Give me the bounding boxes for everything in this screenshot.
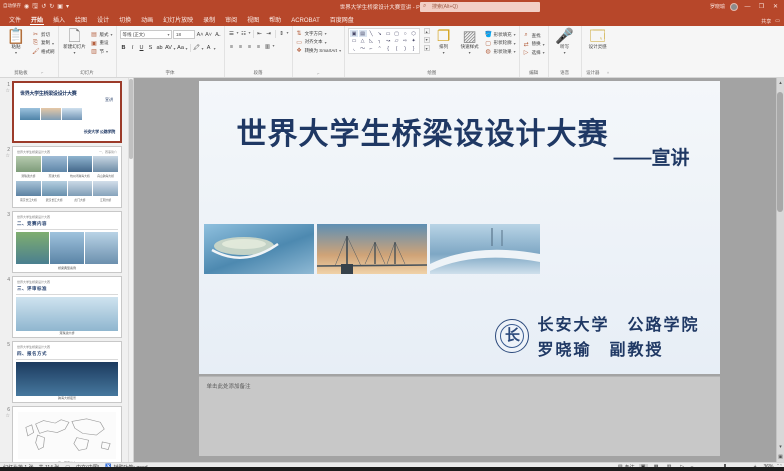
ribbon-group-drawing: ▣ ▤ ╲ ↘ ▭ ▢ ○ ⬡ ▭ △ ◺ ╮ ↝ ▱ ⇨ ✦ ◟ 〜 ⌐ ⌃ [345, 26, 520, 77]
slide-photo-2[interactable] [317, 224, 427, 274]
thumb4-caption: 港珠澳大桥 [13, 331, 121, 335]
autosave-switch-icon[interactable]: ◉ [24, 4, 29, 10]
thumbnail-slide-3[interactable]: 世界大学生桥梁设计大赛 二、竞赛内容 桥梁典型案例 [12, 211, 122, 273]
quick-style-button[interactable]: ▨ 快速样式 ▾ [458, 28, 482, 55]
font-name-input[interactable]: 等线 (正文) ▾ [120, 30, 172, 39]
font-size-value: 18 [176, 32, 181, 37]
ribbon: 📋 粘贴 ▾ ✂ 剪切 ⎘ 复制 ▾ 🖌 格式刷 [0, 26, 784, 78]
group-label-font: 字体 [120, 70, 221, 77]
shape-gallery[interactable]: ▣ ▤ ╲ ↘ ▭ ▢ ○ ⬡ ▭ △ ◺ ╮ ↝ ▱ ⇨ ✦ ◟ 〜 ⌐ ⌃ [348, 28, 420, 54]
ribbon-group-paragraph-extras: ⇅ 文字方向 ▾ ▭ 对齐文本 ▾ ❖ 转换为 SmartArt ▾ ⌐ [293, 26, 346, 77]
chevron-down-icon[interactable]: ▾ [174, 46, 176, 51]
layout-label: 版式 [100, 32, 109, 38]
divider [16, 359, 118, 360]
thumb3-header: 世界大学生桥梁设计大赛 [17, 215, 50, 219]
chevron-down-icon[interactable]: ▾ [543, 50, 545, 55]
tab-acrobat[interactable]: ACROBAT [286, 18, 325, 26]
shape-rtriangle[interactable]: ◺ [367, 38, 375, 45]
replace-label: 替换 [532, 41, 541, 47]
designer-label: 设计灵感 [589, 44, 607, 49]
divider [16, 229, 118, 230]
character-shading-icon[interactable]: 🖍 [193, 44, 201, 52]
tab-home[interactable]: 开始 [26, 15, 48, 26]
thumb6-heading: 五、赛事分布 [13, 461, 121, 462]
thumbnail-number-2: 2 ☆ [2, 146, 12, 159]
slide-editor-pane: 世界大学生桥梁设设计大赛 ——宣讲 [134, 78, 784, 462]
line-spacing-button[interactable]: ⇕ [278, 30, 286, 38]
thumbnail-number-5: 5 [2, 341, 12, 348]
quick-access-toolbar[interactable]: 自动保存 ◉ 🖫 ↺ ↻ ▣ ▾ [0, 3, 69, 10]
thumb5-image [16, 362, 118, 396]
slide-scrollbar-handle[interactable] [777, 92, 783, 212]
title-bar: 自动保存 ◉ 🖫 ↺ ↻ ▣ ▾ 世界大学生桥梁设计大赛宣讲 - PowerPo… [0, 0, 784, 13]
font-size-input[interactable]: 18 [173, 30, 195, 39]
search-input[interactable]: ⌕ 搜索(Alt+Q) [420, 2, 540, 12]
shape-arc[interactable]: ◟ [350, 45, 358, 52]
shape-fill-label: 形状填充 [494, 32, 512, 38]
align-right-button[interactable]: ≡ [246, 43, 254, 51]
reset-label: 重设 [100, 40, 109, 46]
find-label: 查找 [532, 33, 541, 39]
slide-footer-block[interactable]: 长 长安大学 公路学院 罗晓瑜 副教授 [495, 311, 699, 360]
thumb1-photo-strip [20, 108, 82, 120]
thumbnail-slide-4[interactable]: 世界大学生桥梁设计大赛 三、评审标准 港珠澳大桥 [12, 276, 122, 338]
text-direction-button[interactable]: ⇅ 文字方向 ▾ [296, 30, 342, 37]
save-icon[interactable]: 🖫 [32, 3, 38, 10]
slide-footer-text: 长安大学 公路学院 罗晓瑜 副教授 [537, 311, 699, 360]
thumb4-heading: 三、评审标准 [17, 286, 47, 292]
tab-view[interactable]: 视图 [242, 15, 264, 26]
chevron-down-icon[interactable]: ▾ [214, 46, 216, 51]
chevron-down-icon[interactable]: ▾ [186, 46, 188, 51]
search-icon: ⌕ [423, 3, 426, 10]
minimize-button[interactable]: — [743, 4, 752, 10]
shape-textbox[interactable]: ▣ [350, 30, 358, 37]
dialog-launcher-icon[interactable]: ⌐ [317, 71, 319, 76]
copy-label: 复制 [41, 40, 50, 46]
tab-help[interactable]: 帮助 [264, 15, 286, 26]
thumb1-subtitle: 宣讲 [105, 97, 113, 103]
thumbnail-slide-2[interactable]: 世界大学生桥梁设计大赛 一、赛事简介 港珠澳大桥 苏通大桥 杭州湾跨海大桥 舟山… [12, 146, 122, 208]
comments-button[interactable]: ▭ [775, 18, 780, 24]
tab-transitions[interactable]: 切换 [114, 15, 136, 26]
thumbnail-slide-6[interactable]: 五、赛事分布 [12, 406, 122, 462]
format-painter-icon: 🖌 [32, 48, 39, 55]
search-icon: ⌕ [523, 32, 530, 39]
quick-style-label: 快速样式 [461, 44, 479, 49]
chevron-down-icon[interactable]: ▾ [66, 4, 69, 10]
ribbon-group-slides: 🗋 新建幻灯片 ▾ ▤ 版式 ▾ ▣ 重设 ▥ 节 ▾ [59, 26, 117, 77]
scroll-up-icon[interactable]: ▴ [424, 28, 430, 34]
tab-insert[interactable]: 插入 [48, 15, 70, 26]
change-case-button[interactable]: Aa [177, 44, 185, 52]
font-name-value: 等线 (正文) [123, 32, 145, 38]
thumb3-images [16, 232, 118, 264]
increase-indent-button[interactable]: ⇥ [265, 30, 273, 38]
shape-gallery-scroll[interactable]: ▴ ▾ ▾ [423, 28, 430, 51]
dictate-button[interactable]: 🎤 听写 ▾ [552, 28, 578, 55]
thumb4-header: 世界大学生桥梁设计大赛 [17, 280, 50, 284]
ribbon-group-clipboard: 📋 粘贴 ▾ ✂ 剪切 ⎘ 复制 ▾ 🖌 格式刷 [0, 26, 59, 77]
university-logo: 长 [495, 319, 529, 353]
thumb5-caption: 跨海大桥夜景 [13, 396, 121, 400]
copy-icon: ⎘ [32, 40, 39, 47]
shape-callout[interactable]: ▱ [393, 38, 401, 45]
section-button[interactable]: ▥ 节 ▾ [91, 48, 113, 55]
chevron-down-icon[interactable]: ▾ [443, 50, 445, 55]
slide-subtitle[interactable]: ——宣讲 [613, 143, 689, 170]
shape-brace-left[interactable]: { [384, 45, 392, 52]
thumb1-footer: 长安大学 公路学院 [84, 129, 115, 135]
scroll-down-icon[interactable]: ▾ [424, 37, 430, 43]
replace-button[interactable]: ⇄ 替换 ▾ [523, 41, 545, 48]
group-label-drawing: 绘图 [348, 70, 516, 77]
window-title: 世界大学生桥梁设计大赛宣讲 - PowerPoint [0, 3, 784, 11]
tab-file[interactable]: 文件 [4, 15, 26, 26]
avatar[interactable] [730, 3, 738, 11]
shape-rounded-rect[interactable]: ▢ [393, 30, 401, 37]
tab-record[interactable]: 录制 [198, 15, 220, 26]
chevron-down-icon[interactable]: ▾ [202, 46, 204, 51]
clear-formatting-icon[interactable]: A̶ [214, 31, 221, 39]
shape-freeform[interactable]: ↝ [384, 38, 392, 45]
thumb1-title: 世界大学生桥梁设设计大赛 [20, 90, 76, 97]
chevron-down-icon[interactable]: ▾ [15, 50, 17, 55]
thumbnail-row-4[interactable]: 4 世界大学生桥梁设计大赛 三、评审标准 港珠澳大桥 [0, 273, 133, 338]
group-label-voice: 语音 [552, 70, 578, 77]
select-icon: ▷ [523, 49, 530, 56]
thumbnail-scrollbar-handle[interactable] [129, 79, 133, 159]
chevron-down-icon[interactable]: ▾ [325, 31, 327, 36]
user-name: 罗晓瑜 [710, 3, 725, 10]
ribbon-tabs[interactable]: 文件 开始 插入 绘图 设计 切换 动画 幻灯片放映 录制 审阅 视图 帮助 A… [0, 13, 784, 26]
chevron-down-icon[interactable]: ▾ [273, 43, 275, 51]
shape-paren-right[interactable]: ) [401, 45, 409, 52]
shape-arrow[interactable]: ↘ [376, 30, 384, 37]
divider [275, 30, 276, 38]
shape-hexagon[interactable]: ⬡ [410, 30, 418, 37]
divider [190, 44, 191, 52]
thumb2-header: 世界大学生桥梁设计大赛 [17, 150, 50, 154]
slide-photo-3[interactable] [430, 224, 540, 274]
chevron-down-icon[interactable]: ▾ [514, 41, 516, 46]
autosave-toggle[interactable]: 自动保存 [3, 4, 21, 9]
taskbar-strip [0, 467, 784, 471]
smartart-label: 转换为 SmartArt [305, 48, 338, 54]
chevron-down-icon[interactable]: ▾ [514, 49, 516, 54]
tab-baidu-netdisk[interactable]: 百度网盘 [325, 15, 359, 26]
chevron-down-icon[interactable]: ▾ [339, 48, 341, 53]
chevron-down-icon[interactable]: ▾ [249, 30, 251, 38]
ribbon-group-paragraph: ☰ ▾ ☷ ▾ ⇤ ⇥ ⇕ ▾ ≡ ≡ ≡ ≡ ▥ ▾ 段落 [225, 26, 293, 77]
dictate-label: 听写 [560, 44, 569, 49]
reset-icon: ▣ [91, 40, 98, 47]
shape-outline-label: 形状轮廓 [494, 40, 512, 46]
shape-fill-button[interactable]: 🪣 形状填充 ▾ [485, 31, 516, 38]
align-text-icon: ▭ [296, 39, 303, 46]
format-painter-button[interactable]: 🖌 格式刷 [32, 48, 55, 55]
search-placeholder: 搜索(Alt+Q) [432, 3, 458, 10]
shape-effects-icon: ◍ [485, 48, 492, 55]
shape-textbox2[interactable]: ▤ [359, 30, 367, 37]
restore-button[interactable]: ❐ [757, 3, 766, 10]
underline-button[interactable]: U [138, 44, 146, 52]
shape-corner[interactable]: ⌐ [367, 45, 375, 52]
strikethrough-button[interactable]: ab [156, 44, 164, 52]
align-text-button[interactable]: ▭ 对齐文本 ▾ [296, 39, 342, 46]
group-label-clipboard: 剪贴板 ⌐ [3, 70, 55, 77]
shape-oval[interactable]: ○ [401, 30, 409, 37]
group-label-editing: 编辑 [523, 70, 545, 77]
thumb4-image [16, 297, 118, 331]
shape-effects-button[interactable]: ◍ 形状效果 ▾ [485, 48, 516, 55]
paste-icon: 📋 [7, 30, 26, 43]
thumbnail-row-3[interactable]: 3 世界大学生桥梁设计大赛 二、竞赛内容 桥梁典型案例 [0, 208, 133, 273]
numbering-button[interactable]: ☷ [240, 30, 248, 38]
collapse-ribbon-icon[interactable]: ˄ [601, 70, 609, 75]
thumb5-heading: 四、报名方式 [17, 351, 47, 357]
chevron-down-icon[interactable]: ▾ [325, 40, 327, 45]
align-left-button[interactable]: ≡ [228, 43, 236, 51]
find-button[interactable]: ⌕ 查找 [523, 32, 545, 39]
shape-arrow-block[interactable]: ⇨ [401, 38, 409, 45]
group-label-designer: 设计器 ˄ [585, 70, 611, 77]
close-button[interactable]: ✕ [771, 3, 780, 10]
slide-photo-1[interactable] [204, 224, 314, 274]
layout-button[interactable]: ▤ 版式 ▾ [91, 31, 113, 38]
shape-outline-icon: ▢ [485, 40, 492, 47]
thumb2-header-right: 一、赛事简介 [99, 150, 117, 154]
shape-outline-button[interactable]: ▢ 形状轮廓 ▾ [485, 40, 516, 47]
ribbon-group-voice: 🎤 听写 ▾ 语音 [549, 26, 582, 77]
thumb3-heading: 二、竞赛内容 [17, 221, 47, 227]
shadow-button[interactable]: S [147, 44, 155, 52]
shape-fill-icon: 🪣 [485, 31, 492, 38]
thumbnail-slide-1[interactable]: 世界大学生桥梁设设计大赛 宣讲 长安大学 公路学院 [12, 81, 122, 143]
quick-style-icon: ▨ [463, 30, 477, 43]
work-area: 1 ☆ 世界大学生桥梁设设计大赛 宣讲 长安大学 公路学院 2 ☆ 世 [0, 78, 784, 462]
shape-curve[interactable]: ╮ [376, 38, 384, 45]
thumbnail-row-1[interactable]: 1 ☆ 世界大学生桥梁设设计大赛 宣讲 长安大学 公路学院 [0, 78, 133, 143]
shape-brace-right[interactable]: } [410, 45, 418, 52]
reset-button[interactable]: ▣ 重设 [91, 40, 113, 47]
chevron-down-icon[interactable]: ▾ [73, 50, 75, 55]
paste-button[interactable]: 📋 粘贴 ▾ [3, 28, 29, 55]
text-direction-icon: ⇅ [296, 30, 303, 37]
arrange-button[interactable]: ❐ 排列 ▾ [433, 28, 455, 55]
share-button[interactable]: 共享 [761, 18, 771, 25]
tab-design[interactable]: 设计 [92, 15, 114, 26]
align-center-button[interactable]: ≡ [237, 43, 245, 51]
new-slide-button[interactable]: 🗋 新建幻灯片 ▾ [62, 28, 88, 55]
group-label-paragraph: 段落 [228, 70, 289, 77]
window-controls[interactable]: 罗晓瑜 — ❐ ✕ [710, 3, 784, 11]
text-direction-label: 文字方向 [305, 31, 323, 37]
bullets-button[interactable]: ☰ [228, 30, 236, 38]
group-label-slides: 幻灯片 [62, 70, 113, 77]
scissors-icon: ✂ [32, 31, 39, 38]
cut-button[interactable]: ✂ 剪切 [32, 31, 55, 38]
chevron-down-icon[interactable]: ▾ [168, 32, 170, 37]
shape-scribble[interactable]: 〜 [359, 45, 367, 52]
chevron-down-icon[interactable]: ▾ [469, 50, 471, 55]
shape-triangle[interactable]: △ [359, 38, 367, 45]
world-map-icon [18, 412, 116, 459]
character-spacing-button[interactable]: AV [165, 44, 173, 52]
new-slide-label: 新建幻灯片 [63, 44, 86, 49]
dialog-launcher-icon[interactable]: ⌐ [29, 70, 43, 75]
thumbnail-number-1: 1 ☆ [2, 81, 12, 94]
divider [16, 294, 118, 295]
slide-photo-strip[interactable] [204, 224, 540, 274]
smartart-icon: ❖ [296, 47, 303, 54]
chevron-down-icon[interactable]: ▾ [52, 41, 54, 46]
select-button[interactable]: ▷ 选择 ▾ [523, 49, 545, 56]
thumbnail-row-2[interactable]: 2 ☆ 世界大学生桥梁设计大赛 一、赛事简介 港珠澳大桥 苏通大桥 杭州湾跨海大… [0, 143, 133, 208]
select-label: 选择 [532, 50, 541, 56]
notes-pane[interactable]: 单击此处添加备注 [199, 376, 720, 456]
shape-star[interactable]: ✦ [410, 38, 418, 45]
slide-star-icon: ☆ [2, 88, 10, 94]
chevron-down-icon[interactable]: ▾ [106, 49, 108, 54]
italic-button[interactable]: I [129, 44, 137, 52]
cut-label: 剪切 [41, 32, 50, 38]
ribbon-group-font: 等线 (正文) ▾ 18 A˄ A˅ A̶ B I U S ab AV ▾ Aa… [117, 26, 225, 77]
copy-button[interactable]: ⎘ 复制 ▾ [32, 40, 55, 47]
chevron-down-icon[interactable]: ▾ [514, 32, 516, 37]
designer-button[interactable]: 🗔 设计灵感 [585, 28, 611, 49]
tab-draw[interactable]: 绘图 [70, 15, 92, 26]
fit-slide-icon[interactable]: ▣ [777, 454, 784, 460]
new-slide-icon: 🗋 [68, 30, 80, 43]
microphone-icon: 🎤 [555, 30, 574, 43]
shape-rect2[interactable]: ▭ [350, 38, 358, 45]
divider [253, 30, 254, 38]
thumbnail-number-3: 3 [2, 211, 12, 218]
designer-icon: 🗔 [589, 30, 605, 43]
shape-paren-left[interactable]: ( [393, 45, 401, 52]
thumbnail-row-5[interactable]: 5 世界大学生桥梁设计大赛 四、报名方式 跨海大桥夜景 [0, 338, 133, 403]
shape-effects-label: 形状效果 [494, 49, 512, 55]
thumbnail-number-6: 6 ☆ [2, 406, 12, 419]
align-text-label: 对齐文本 [305, 39, 323, 45]
columns-button[interactable]: ▥ [264, 43, 272, 51]
arrange-icon: ❐ [437, 30, 450, 43]
group-label-paragraph-dialog: ⌐ [296, 71, 342, 77]
thumb5-header: 世界大学生桥梁设计大赛 [17, 345, 50, 349]
footer-line-2: 罗晓瑜 副教授 [537, 336, 699, 360]
slide-thumbnail-pane[interactable]: 1 ☆ 世界大学生桥梁设设计大赛 宣讲 长安大学 公路学院 2 ☆ 世 [0, 78, 134, 462]
chevron-down-icon[interactable]: ▾ [543, 42, 545, 47]
footer-line-1: 长安大学 公路学院 [537, 311, 699, 335]
thumbnail-scrollbar[interactable] [128, 78, 133, 462]
scroll-down-icon[interactable]: ▾ [777, 444, 784, 450]
redo-icon[interactable]: ↻ [49, 4, 54, 10]
scroll-more-icon[interactable]: ▾ [424, 45, 430, 51]
slide-scrollbar[interactable]: ▴ ▾ ▣ [776, 78, 784, 462]
slide-star-icon: ☆ [2, 413, 10, 419]
increase-font-icon[interactable]: A˄ [197, 31, 204, 39]
convert-to-smartart-button[interactable]: ❖ 转换为 SmartArt ▾ [296, 47, 342, 54]
chevron-down-icon[interactable]: ▾ [564, 50, 566, 55]
slideshow-icon[interactable]: ▣ [57, 4, 63, 10]
slide-star-icon: ☆ [2, 153, 10, 159]
logo-glyph: 长 [496, 325, 528, 347]
thumb2-image-grid: 港珠澳大桥 苏通大桥 杭州湾跨海大桥 舟山跨海大桥 南京长江大桥 武汉长江大桥 … [16, 156, 118, 204]
ribbon-group-editing: ⌕ 查找 ⇄ 替换 ▾ ▷ 选择 ▾ 编辑 [520, 26, 549, 77]
tab-review[interactable]: 审阅 [220, 15, 242, 26]
scroll-up-icon[interactable]: ▴ [777, 80, 784, 86]
thumbnail-row-6[interactable]: 6 ☆ 五、赛事分布 [0, 403, 133, 462]
shape-line[interactable]: ╲ [367, 30, 375, 37]
paste-label: 粘贴 [12, 44, 21, 49]
chevron-down-icon[interactable]: ▾ [111, 32, 113, 37]
section-label: 节 [100, 49, 105, 55]
thumb3-caption: 桥梁典型案例 [13, 266, 121, 270]
decrease-indent-button[interactable]: ⇤ [256, 30, 264, 38]
shape-chevron[interactable]: ⌃ [376, 45, 384, 52]
decrease-font-icon[interactable]: A˅ [205, 31, 212, 39]
chevron-down-icon[interactable]: ▾ [237, 30, 239, 38]
section-icon: ▥ [91, 48, 98, 55]
thumbnail-slide-5[interactable]: 世界大学生桥梁设计大赛 四、报名方式 跨海大桥夜景 [12, 341, 122, 403]
tab-animations[interactable]: 动画 [136, 15, 158, 26]
chevron-down-icon[interactable]: ▾ [287, 30, 289, 38]
notes-placeholder: 单击此处添加备注 [207, 382, 251, 390]
shape-rect[interactable]: ▭ [384, 30, 392, 37]
arrange-label: 排列 [439, 44, 448, 49]
thumbnail-number-4: 4 [2, 276, 12, 283]
ribbon-group-designer: 🗔 设计灵感 设计器 ˄ [582, 26, 614, 77]
format-painter-label: 格式刷 [41, 49, 55, 55]
slide-canvas[interactable]: 世界大学生桥梁设设计大赛 ——宣讲 [199, 81, 720, 374]
justify-button[interactable]: ≡ [255, 43, 263, 51]
bold-button[interactable]: B [120, 44, 128, 52]
replace-icon: ⇄ [523, 41, 530, 48]
tab-slideshow[interactable]: 幻灯片放映 [158, 15, 198, 26]
layout-icon: ▤ [91, 31, 98, 38]
undo-icon[interactable]: ↺ [41, 4, 46, 10]
font-color-icon[interactable]: A [205, 44, 213, 52]
